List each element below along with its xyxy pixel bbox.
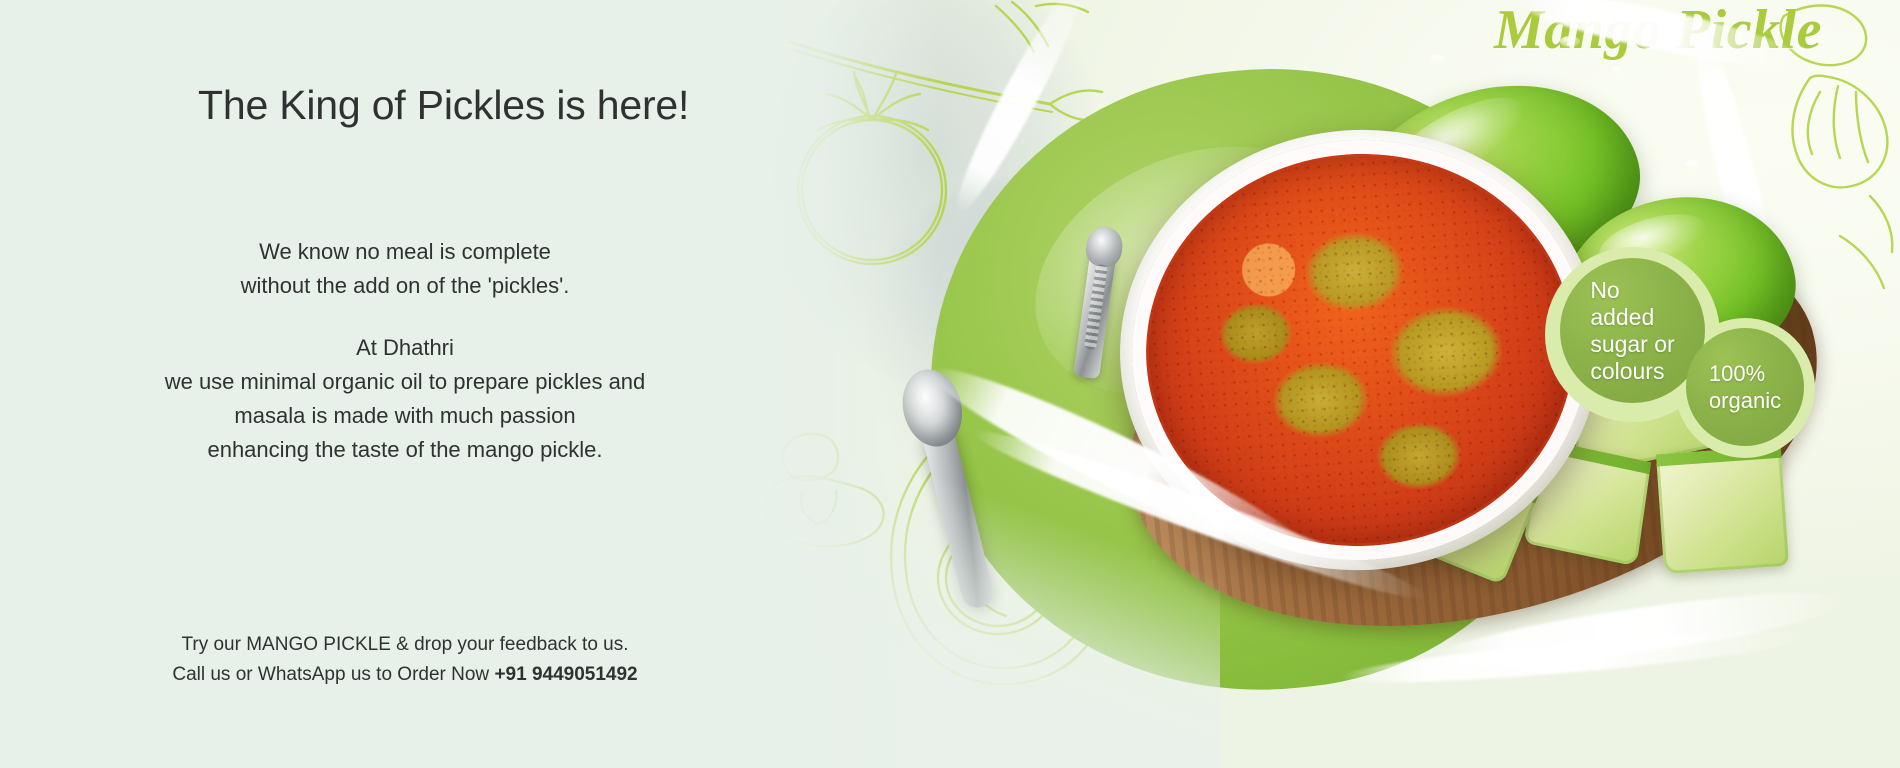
product-image-panel: Mango Pickle	[750, 0, 1900, 768]
water-droplet	[1560, 36, 1580, 47]
cut-mango-cube	[1656, 446, 1789, 574]
water-droplet	[1685, 160, 1699, 169]
badge-no-added-sugar[interactable]: No added sugar or colours	[1560, 258, 1705, 403]
badge-line: organic	[1709, 388, 1781, 413]
body-line-3: At Dhathri	[356, 335, 454, 360]
body-line-5: masala is made with much passion	[234, 403, 575, 428]
water-droplet	[1430, 54, 1446, 64]
paragraph-gap	[0, 303, 810, 331]
badge-line: added	[1590, 304, 1654, 330]
body-line-6: enhancing the taste of the mango pickle.	[207, 437, 602, 462]
body-line-1: We know no meal is complete	[259, 239, 551, 264]
mango-pickle-banner: Mango Pickle	[0, 0, 1900, 768]
badge-organic-text: 100% organic	[1709, 360, 1781, 414]
headline: The King of Pickles is here!	[198, 82, 689, 129]
body-line-4: we use minimal organic oil to prepare pi…	[165, 369, 646, 394]
badge-line: No	[1590, 277, 1619, 303]
cta-phone-number[interactable]: +91 9449051492	[494, 664, 637, 685]
body-copy: We know no meal is complete without the …	[0, 235, 810, 467]
call-to-action: Try our MANGO PICKLE & drop your feedbac…	[0, 630, 810, 690]
badge-line: sugar or	[1590, 331, 1674, 357]
badge-hundred-percent-organic[interactable]: 100% organic	[1686, 328, 1804, 446]
badge-no-added-sugar-text: No added sugar or colours	[1590, 277, 1674, 385]
water-droplet	[1612, 66, 1624, 74]
badge-line: 100%	[1709, 361, 1765, 386]
panel-left-blend	[750, 0, 940, 768]
cta-line-1: Try our MANGO PICKLE & drop your feedbac…	[181, 634, 628, 655]
cta-line-2-prefix: Call us or WhatsApp us to Order Now	[172, 664, 494, 685]
body-line-2: without the add on of the 'pickles'.	[241, 273, 570, 298]
badge-line: colours	[1590, 358, 1664, 384]
